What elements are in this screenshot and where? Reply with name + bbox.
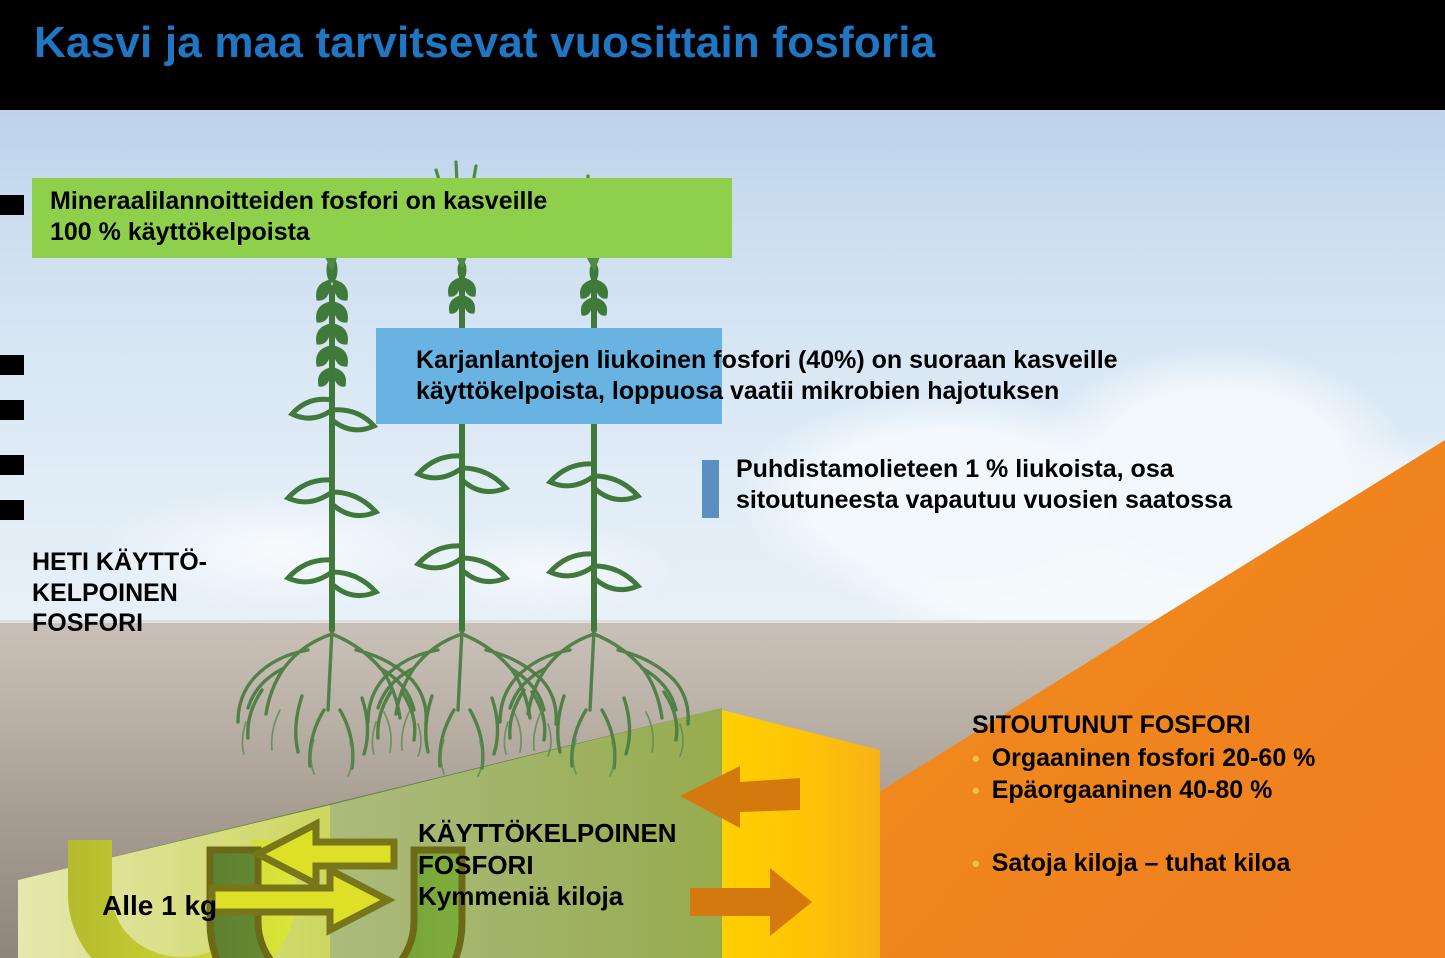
sludge-line1: Puhdistamolieteen 1 % liukoista, osa	[736, 454, 1376, 485]
mineral-fertilizer-line2: 100 % käyttökelpoista	[50, 217, 740, 248]
immediate-phosphorus-label: HETI KÄYTTÖ- KELPOINEN FOSFORI	[32, 547, 292, 639]
title-bar: Kasvi ja maa tarvitsevat vuosittain fosf…	[0, 0, 1445, 110]
usable-phosphorus-line3: Kymmeniä kiloja	[418, 881, 728, 913]
yellow-strip-shape	[722, 710, 880, 958]
scene: Mineraalilannoitteiden fosfori on kasvei…	[0, 110, 1445, 958]
bullet-icon: •	[972, 853, 980, 875]
bound-phosphorus-item-text: Orgaaninen fosfori 20-60 %	[992, 743, 1316, 774]
bullet-spacer	[972, 808, 1432, 846]
sludge-text: Puhdistamolieteen 1 % liukoista, osa sit…	[736, 454, 1376, 515]
bullet-icon: •	[972, 780, 980, 802]
bullet-icon: •	[972, 748, 980, 770]
small-amount-label: Alle 1 kg	[102, 889, 322, 923]
mineral-fertilizer-text: Mineraalilannoitteiden fosfori on kasvei…	[50, 186, 740, 247]
usable-phosphorus-label: KÄYTTÖKELPOINEN FOSFORI Kymmeniä kiloja	[418, 818, 728, 913]
page-title: Kasvi ja maa tarvitsevat vuosittain fosf…	[34, 18, 935, 68]
edge-marker-5	[0, 500, 24, 520]
bound-phosphorus-item: • Satoja kiloja – tuhat kiloa	[972, 848, 1432, 879]
manure-line1: Karjanlantojen liukoinen fosfori (40%) o…	[416, 345, 1346, 376]
plant-1	[238, 190, 426, 776]
bound-phosphorus-title: SITOUTUNUT FOSFORI	[972, 710, 1432, 741]
edge-marker-4	[0, 455, 24, 475]
manure-line2: käyttökelpoista, loppuosa vaatii mikrobi…	[416, 376, 1346, 407]
infographic-slide: Kasvi ja maa tarvitsevat vuosittain fosf…	[0, 0, 1445, 958]
immediate-phosphorus-line1: HETI KÄYTTÖ-	[32, 547, 292, 578]
mineral-fertilizer-line1: Mineraalilannoitteiden fosfori on kasvei…	[50, 186, 740, 217]
immediate-phosphorus-line3: FOSFORI	[32, 608, 292, 639]
bound-phosphorus-item: • Orgaaninen fosfori 20-60 %	[972, 743, 1432, 774]
edge-marker-1	[0, 195, 24, 215]
plant-3	[500, 176, 688, 776]
edge-marker-2	[0, 355, 24, 375]
bound-phosphorus-item: • Epäorgaaninen 40-80 %	[972, 775, 1432, 806]
sludge-marker-bar	[702, 460, 719, 518]
bound-phosphorus-item-text: Epäorgaaninen 40-80 %	[992, 775, 1273, 806]
manure-text: Karjanlantojen liukoinen fosfori (40%) o…	[416, 345, 1346, 406]
bound-phosphorus-item-text: Satoja kiloja – tuhat kiloa	[992, 848, 1291, 879]
edge-marker-3	[0, 400, 24, 420]
usable-phosphorus-line2: FOSFORI	[418, 850, 728, 882]
immediate-phosphorus-line2: KELPOINEN	[32, 578, 292, 609]
usable-phosphorus-line1: KÄYTTÖKELPOINEN	[418, 818, 728, 850]
bound-phosphorus-block: SITOUTUNUT FOSFORI • Orgaaninen fosfori …	[972, 710, 1432, 880]
sludge-line2: sitoutuneesta vapautuu vuosien saatossa	[736, 485, 1376, 516]
